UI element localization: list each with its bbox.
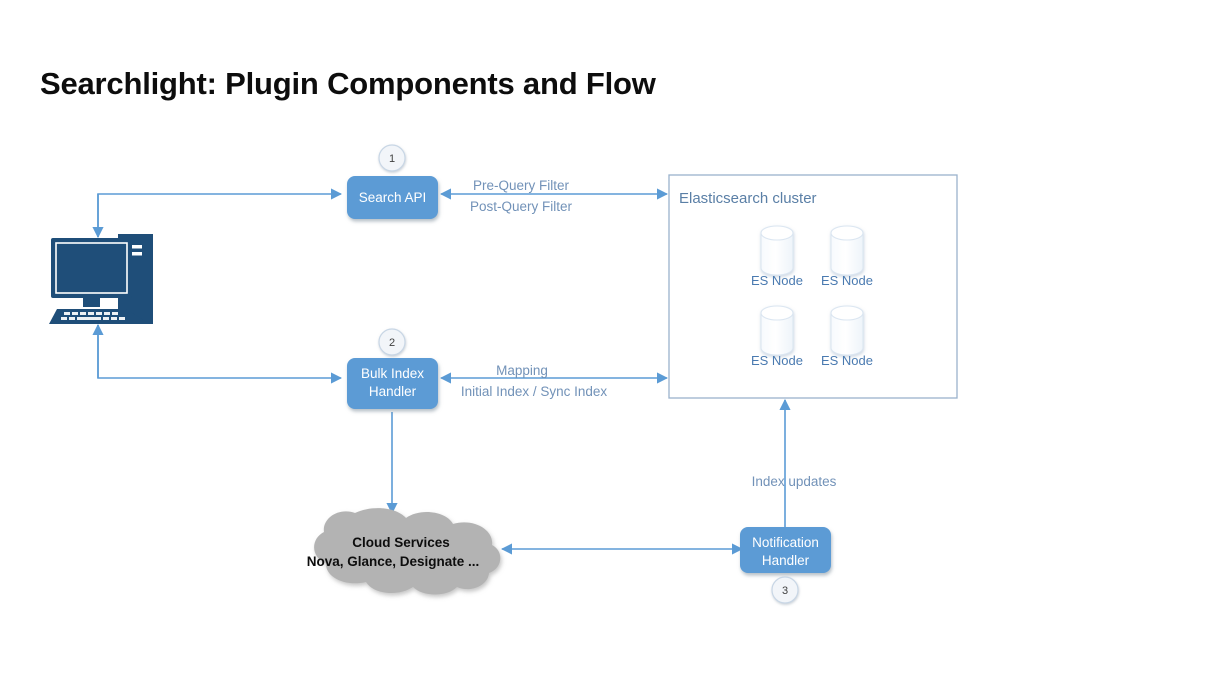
- connector-client-to-bulk-index: [98, 325, 341, 378]
- slide-canvas: Searchlight: Plugin Components and Flow: [0, 0, 1207, 681]
- elasticsearch-cluster: Elasticsearch cluster ES Node ES Node: [669, 175, 957, 398]
- es-node-3-label: ES Node: [751, 353, 803, 368]
- node-notification-handler-label-line2: Handler: [762, 553, 810, 568]
- es-node-4-label: ES Node: [821, 353, 873, 368]
- node-search-api[interactable]: Search API: [347, 176, 438, 219]
- es-node-2-label: ES Node: [821, 273, 873, 288]
- edge-label-mapping: Mapping: [496, 363, 548, 378]
- node-notification-handler[interactable]: Notification Handler: [740, 527, 831, 573]
- node-bulk-index-handler[interactable]: Bulk Index Handler: [347, 358, 438, 409]
- edge-label-pre-query-filter: Pre-Query Filter: [473, 178, 570, 193]
- cloud-services: Cloud Services Nova, Glance, Designate .…: [307, 508, 501, 594]
- badge-bulk-index-handler-text: 2: [389, 337, 395, 349]
- badge-bulk-index-handler: 2: [379, 329, 405, 355]
- node-bulk-index-handler-label-line1: Bulk Index: [361, 366, 424, 381]
- badge-notification-handler-text: 3: [782, 585, 788, 597]
- node-search-api-label: Search API: [359, 190, 427, 205]
- cloud-services-line1: Cloud Services: [352, 535, 450, 550]
- badge-notification-handler: 3: [772, 577, 798, 603]
- edge-label-index-updates: Index updates: [752, 474, 837, 489]
- node-notification-handler-label-line1: Notification: [752, 535, 819, 550]
- badge-search-api-text: 1: [389, 153, 395, 165]
- node-bulk-index-handler-label-line2: Handler: [369, 384, 417, 399]
- edge-label-post-query-filter: Post-Query Filter: [470, 199, 573, 214]
- client-computer-icon: [49, 234, 153, 324]
- es-node-1-label: ES Node: [751, 273, 803, 288]
- connector-client-to-search-api: [98, 194, 341, 237]
- edge-label-initial-sync-index: Initial Index / Sync Index: [461, 384, 608, 399]
- cloud-services-line2: Nova, Glance, Designate ...: [307, 554, 480, 569]
- elasticsearch-cluster-title: Elasticsearch cluster: [679, 190, 817, 207]
- architecture-diagram: Search API 1 Bulk Index Handler 2 Notifi…: [0, 0, 1207, 681]
- badge-search-api: 1: [379, 145, 405, 171]
